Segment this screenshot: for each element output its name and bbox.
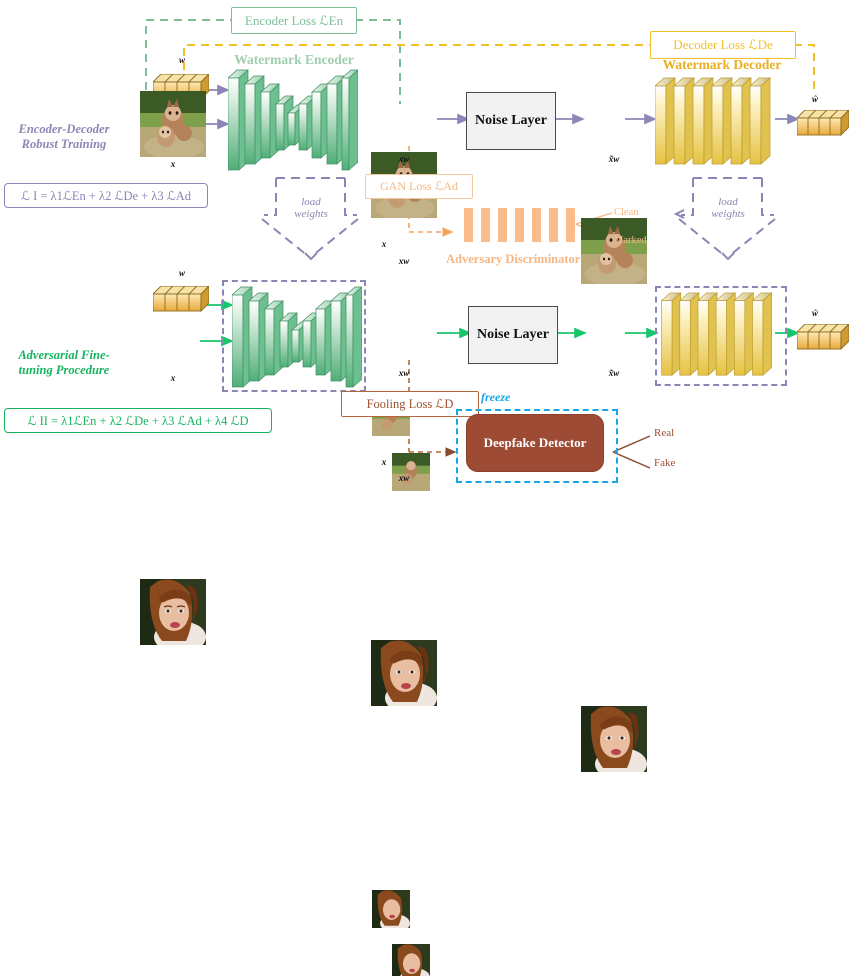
decoder-loss-box: Decoder Loss ℒDe xyxy=(650,31,796,59)
figure-canvas: Encoder Loss ℒEn Decoder Loss ℒDe Waterm… xyxy=(0,0,852,488)
noised-image-row1 xyxy=(581,218,852,284)
load-weights-left-line1: load xyxy=(283,196,339,208)
watermark-decoder-network-row1 xyxy=(655,76,775,173)
watermark-out-vector-row2 xyxy=(797,324,849,350)
watermark-in-symbol-row2: w xyxy=(170,268,194,278)
row2-side-label: Adversarial Fine- tuning Procedure xyxy=(2,348,126,378)
cover-image-symbol-row2: x xyxy=(140,373,206,383)
row1-side-label-line1: Encoder-Decoder xyxy=(2,122,126,137)
gan-loss-box: GAN Loss ℒAd xyxy=(365,174,473,199)
watermark-encoder-network-row1 xyxy=(228,66,358,179)
marked-image-symbol-row2: xw xyxy=(371,368,437,378)
row2-formula: ℒ II = λ1ℒEn + λ2 ℒDe + λ3 ℒAd + λ4 ℒD xyxy=(27,413,248,429)
encoder-loss-label: Encoder Loss ℒEn xyxy=(245,13,343,29)
adversary-discriminator-bars xyxy=(464,208,580,247)
load-weights-left-line2: weights xyxy=(283,208,339,220)
row1-formula: ℒ I = λ1ℒEn + λ2 ℒDe + λ3 ℒAd xyxy=(21,188,191,204)
marked-image-symbol-row1: xw xyxy=(371,154,437,164)
watermark-decoder-label: Watermark Decoder xyxy=(663,57,782,72)
detector-input-x-row2 xyxy=(372,890,852,928)
watermark-encoder-label: Watermark Encoder xyxy=(234,52,354,67)
noised-image-symbol-row1: x̃w xyxy=(581,154,647,164)
row2-formula-box: ℒ II = λ1ℒEn + λ2 ℒDe + λ3 ℒAd + λ4 ℒD xyxy=(4,408,272,433)
watermark-in-symbol-row1: w xyxy=(170,55,194,65)
load-weights-left: load weights xyxy=(283,196,339,220)
load-weights-right: load weights xyxy=(700,196,756,220)
deepfake-detector: Deepfake Detector xyxy=(466,414,604,472)
discriminator-marked-label: Marked xyxy=(614,235,647,246)
discriminator-clean-label: Clean xyxy=(614,207,639,218)
row1-side-label-line2: Robust Training xyxy=(2,137,126,152)
noised-image-row2 xyxy=(581,706,852,772)
watermark-decoder-network-row2 xyxy=(659,291,779,384)
marked-image-row2 xyxy=(371,640,852,706)
cover-image-symbol-row1: x xyxy=(140,159,206,169)
detector-input-xw-symbol-row2: xw xyxy=(392,473,416,483)
freeze-label: freeze xyxy=(481,390,510,405)
noise-layer-label-row1: Noise Layer xyxy=(475,113,547,129)
noise-layer-row1: Noise Layer xyxy=(466,92,556,150)
row2-side-label-line2: tuning Procedure xyxy=(2,363,126,378)
discriminator-input-xw-symbol-row1: xw xyxy=(392,256,416,266)
fooling-loss-label: Fooling Loss ℒD xyxy=(367,396,454,412)
decoder-loss-label: Decoder Loss ℒDe xyxy=(673,37,773,53)
watermark-encoder-network-row2 xyxy=(232,283,362,396)
watermark-out-vector-row1 xyxy=(797,110,849,136)
detector-input-x-symbol-row2: x xyxy=(372,457,396,467)
noised-image-symbol-row2: x̃w xyxy=(581,368,647,378)
noise-layer-label-row2: Noise Layer xyxy=(477,327,549,343)
detector-fake-label: Fake xyxy=(654,457,675,469)
row1-side-label: Encoder-Decoder Robust Training xyxy=(2,122,126,152)
discriminator-input-x-symbol-row1: x xyxy=(372,239,396,249)
row1-formula-box: ℒ I = λ1ℒEn + λ2 ℒDe + λ3 ℒAd xyxy=(4,183,208,208)
load-weights-right-line1: load xyxy=(700,196,756,208)
load-weights-right-line2: weights xyxy=(700,208,756,220)
watermark-vector-row2 xyxy=(153,286,209,312)
noise-layer-row2: Noise Layer xyxy=(468,306,558,364)
gan-loss-label: GAN Loss ℒAd xyxy=(380,179,458,194)
watermark-out-symbol-row1: ŵ xyxy=(803,94,827,104)
detector-real-label: Real xyxy=(654,427,674,439)
adversary-discriminator-title: Adversary Discriminator xyxy=(446,252,580,267)
deepfake-detector-label: Deepfake Detector xyxy=(484,435,587,451)
watermark-decoder-title: Watermark Decoder xyxy=(644,57,800,73)
cover-image-row2 xyxy=(140,579,852,645)
detector-input-xw-row2 xyxy=(392,944,852,976)
row2-side-label-line1: Adversarial Fine- xyxy=(2,348,126,363)
watermark-out-symbol-row2: ŵ xyxy=(803,308,827,318)
encoder-loss-box: Encoder Loss ℒEn xyxy=(231,7,357,34)
